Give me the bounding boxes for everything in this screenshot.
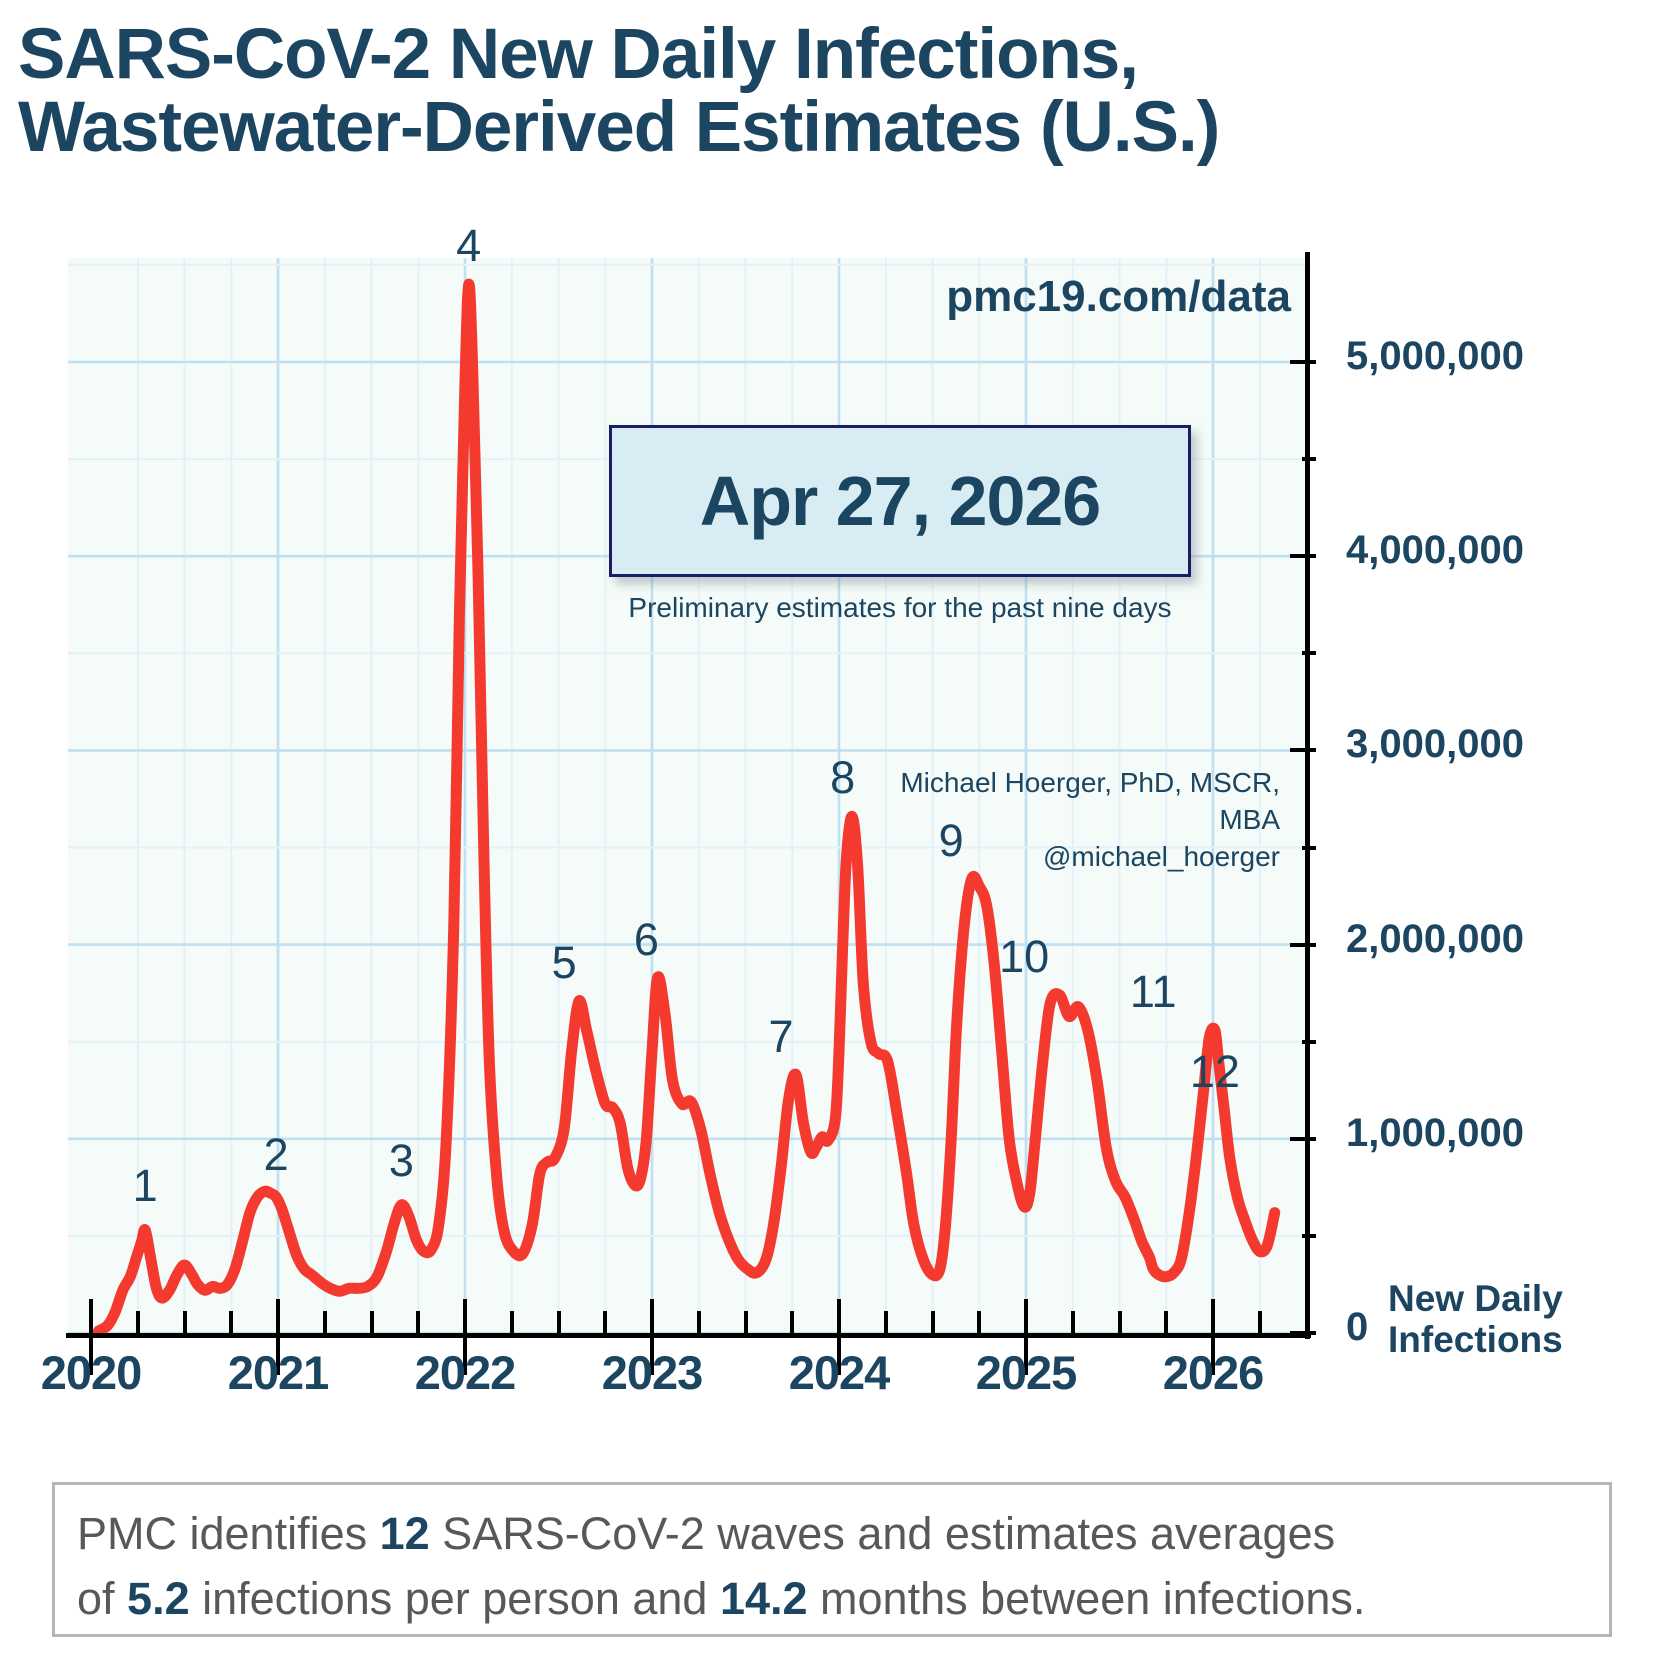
x-tick-major-inner: [650, 1299, 654, 1333]
author-attribution: Michael Hoerger, PhD, MSCR, MBA @michael…: [880, 765, 1280, 876]
x-tick-minor: [603, 1311, 607, 1333]
y-tick-major: [1290, 360, 1316, 364]
x-tick-minor: [1258, 1311, 1262, 1333]
y-tick-minor: [1302, 1040, 1316, 1044]
y-tick-label: 3,000,000: [1346, 722, 1524, 767]
x-tick-major-inner: [1024, 1299, 1028, 1333]
caption-pre2: of: [77, 1573, 127, 1624]
wave-label-11: 11: [1130, 969, 1177, 1014]
x-tick-label: 2020: [41, 1345, 142, 1400]
x-tick-major-inner: [837, 1299, 841, 1333]
y-tick-label: 1,000,000: [1346, 1111, 1524, 1156]
wave-label-7: 7: [768, 1014, 793, 1059]
author-name: Michael Hoerger, PhD, MSCR, MBA: [880, 765, 1280, 839]
y-tick-minor: [1302, 651, 1316, 655]
caption-pre1: PMC identifies: [77, 1508, 380, 1559]
x-tick-minor: [1071, 1311, 1075, 1333]
date-badge: Apr 27, 2026: [609, 425, 1191, 577]
y-tick-major: [1290, 1331, 1316, 1335]
wave-label-6: 6: [634, 917, 659, 962]
x-tick-minor: [1118, 1311, 1122, 1333]
preliminary-note: Preliminary estimates for the past nine …: [609, 592, 1191, 624]
caption-waves-count: 12: [380, 1508, 430, 1559]
x-tick-major-inner: [89, 1299, 93, 1333]
wave-label-12: 12: [1190, 1049, 1240, 1094]
x-tick-minor: [323, 1311, 327, 1333]
x-tick-minor: [697, 1311, 701, 1333]
x-tick-minor: [416, 1311, 420, 1333]
y-tick-major: [1290, 748, 1316, 752]
x-tick-minor: [1164, 1311, 1168, 1333]
date-badge-label: Apr 27, 2026: [700, 461, 1100, 541]
x-tick-label: 2024: [789, 1345, 890, 1400]
y-tick-major: [1290, 943, 1316, 947]
page-title: SARS-CoV-2 New Daily Infections, Wastewa…: [18, 18, 1648, 164]
wave-label-10: 10: [999, 934, 1049, 979]
y-tick-label: 5,000,000: [1346, 334, 1524, 379]
wave-label-8: 8: [830, 755, 855, 800]
y-tick-minor: [1302, 457, 1316, 461]
x-tick-minor: [790, 1311, 794, 1333]
x-tick-minor: [557, 1311, 561, 1333]
x-tick-major-inner: [463, 1299, 467, 1333]
caption-mid1: SARS-CoV-2 waves and estimates averages: [430, 1508, 1335, 1559]
x-tick-minor: [370, 1311, 374, 1333]
author-handle: @michael_hoerger: [880, 839, 1280, 876]
wave-label-4: 4: [456, 223, 481, 268]
caption-mid2: infections per person and: [190, 1573, 720, 1624]
x-tick-major-inner: [276, 1299, 280, 1333]
summary-caption-box: PMC identifies 12 SARS-CoV-2 waves and e…: [52, 1482, 1612, 1637]
x-tick-label: 2022: [415, 1345, 516, 1400]
wave-label-5: 5: [552, 940, 577, 985]
x-tick-major-inner: [1211, 1299, 1215, 1333]
y-tick-label: 2,000,000: [1346, 917, 1524, 962]
y-axis-title: New Daily Infections: [1388, 1278, 1658, 1361]
y-tick-major: [1290, 1137, 1316, 1141]
x-tick-label: 2025: [976, 1345, 1077, 1400]
caption-infections-per-person: 5.2: [127, 1573, 190, 1624]
x-tick-label: 2021: [228, 1345, 329, 1400]
caption-post: months between infections.: [808, 1573, 1366, 1624]
caption-months-between: 14.2: [720, 1573, 808, 1624]
source-url-label: pmc19.com/data: [946, 272, 1291, 322]
x-tick-minor: [744, 1311, 748, 1333]
x-tick-minor: [977, 1311, 981, 1333]
y-tick-label: 4,000,000: [1346, 528, 1524, 573]
y-tick-major: [1290, 554, 1316, 558]
x-tick-minor: [884, 1311, 888, 1333]
x-tick-label: 2026: [1163, 1345, 1264, 1400]
wave-label-1: 1: [133, 1163, 158, 1208]
y-axis-spine: [1305, 252, 1310, 1339]
x-tick-label: 2023: [602, 1345, 703, 1400]
x-tick-minor: [229, 1311, 233, 1333]
x-tick-minor: [931, 1311, 935, 1333]
wave-label-3: 3: [389, 1138, 414, 1183]
x-axis-spine: [66, 1333, 1311, 1338]
summary-caption-text: PMC identifies 12 SARS-CoV-2 waves and e…: [77, 1501, 1587, 1632]
wave-label-2: 2: [264, 1132, 289, 1177]
x-tick-minor: [510, 1311, 514, 1333]
y-tick-minor: [1302, 846, 1316, 850]
x-tick-minor: [136, 1311, 140, 1333]
y-tick-minor: [1302, 1234, 1316, 1238]
x-tick-minor: [183, 1311, 187, 1333]
y-tick-label: 0: [1346, 1305, 1368, 1350]
